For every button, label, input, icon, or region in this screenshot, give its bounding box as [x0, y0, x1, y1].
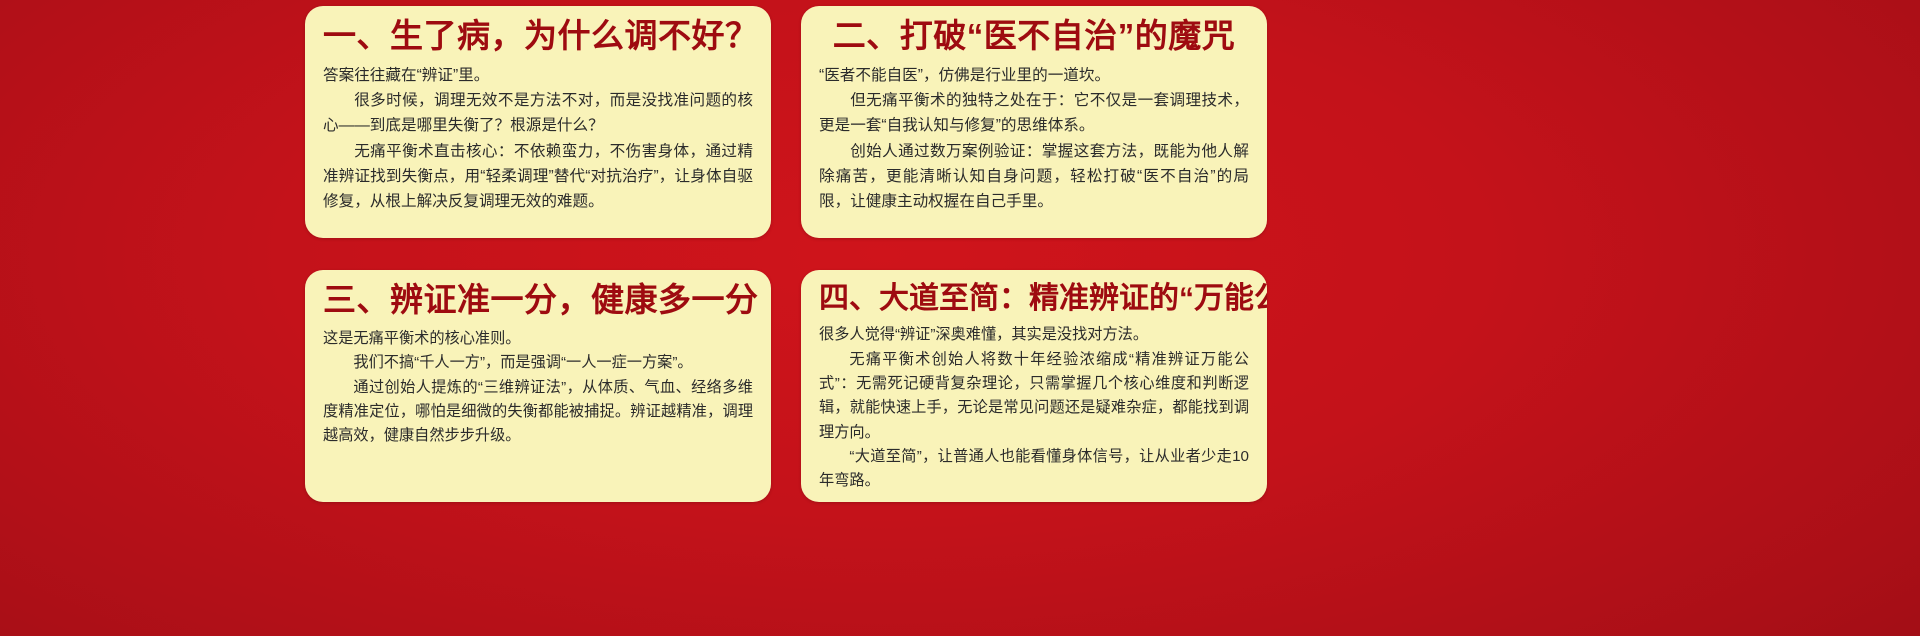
card-two-body: “医者不能自医”，仿佛是行业里的一道坎。 但无痛平衡术的独特之处在于：它不仅是一…: [819, 63, 1249, 215]
card-one: 一、生了病，为什么调不好？ 答案往往藏在“辨证”里。 很多时候，调理无效不是方法…: [305, 6, 771, 238]
card-one-body: 答案往往藏在“辨证”里。 很多时候，调理无效不是方法不对，而是没找准问题的核心—…: [323, 63, 753, 215]
card-four: 四、大道至简：精准辨证的“万能公式” 很多人觉得“辨证”深奥难懂，其实是没找对方…: [801, 270, 1267, 502]
card-two-paragraph-3: 创始人通过数万案例验证：掌握这套方法，既能为他人解除痛苦，更能清晰认知自身问题，…: [819, 139, 1249, 215]
card-three-title: 三、辨证准一分，健康多一分: [323, 281, 753, 320]
card-two-title: 二、打破“医不自治”的魔咒: [819, 17, 1249, 56]
card-four-title: 四、大道至简：精准辨证的“万能公式”: [819, 281, 1249, 316]
card-three-body: 这是无痛平衡术的核心准则。 我们不搞“千人一方”，而是强调“一人一症一方案”。 …: [323, 327, 753, 449]
card-four-paragraph-1: 很多人觉得“辨证”深奥难懂，其实是没找对方法。: [819, 323, 1249, 347]
card-one-paragraph-2: 很多时候，调理无效不是方法不对，而是没找准问题的核心——到底是哪里失衡了？根源是…: [323, 88, 753, 139]
card-two-paragraph-2: 但无痛平衡术的独特之处在于：它不仅是一套调理技术，更是一套“自我认知与修复”的思…: [819, 88, 1249, 139]
card-three-paragraph-3: 通过创始人提炼的“三维辨证法”，从体质、气血、经络多维度精准定位，哪怕是细微的失…: [323, 376, 753, 449]
card-three-paragraph-1: 这是无痛平衡术的核心准则。: [323, 327, 753, 351]
card-one-title: 一、生了病，为什么调不好？: [323, 17, 753, 56]
card-one-paragraph-3: 无痛平衡术直击核心：不依赖蛮力，不伤害身体，通过精准辨证找到失衡点，用“轻柔调理…: [323, 139, 753, 215]
card-four-paragraph-3: “大道至简”，让普通人也能看懂身体信号，让从业者少走10年弯路。: [819, 445, 1249, 494]
card-three-paragraph-2: 我们不搞“千人一方”，而是强调“一人一症一方案”。: [323, 351, 753, 375]
card-one-paragraph-1: 答案往往藏在“辨证”里。: [323, 63, 753, 88]
card-two-paragraph-1: “医者不能自医”，仿佛是行业里的一道坎。: [819, 63, 1249, 88]
cards-grid: 一、生了病，为什么调不好？ 答案往往藏在“辨证”里。 很多时候，调理无效不是方法…: [305, 6, 1267, 626]
card-two: 二、打破“医不自治”的魔咒 “医者不能自医”，仿佛是行业里的一道坎。 但无痛平衡…: [801, 6, 1267, 238]
card-four-paragraph-2: 无痛平衡术创始人将数十年经验浓缩成“精准辨证万能公式”：无需死记硬背复杂理论，只…: [819, 348, 1249, 445]
card-four-body: 很多人觉得“辨证”深奥难懂，其实是没找对方法。 无痛平衡术创始人将数十年经验浓缩…: [819, 323, 1249, 493]
card-three: 三、辨证准一分，健康多一分 这是无痛平衡术的核心准则。 我们不搞“千人一方”，而…: [305, 270, 771, 502]
